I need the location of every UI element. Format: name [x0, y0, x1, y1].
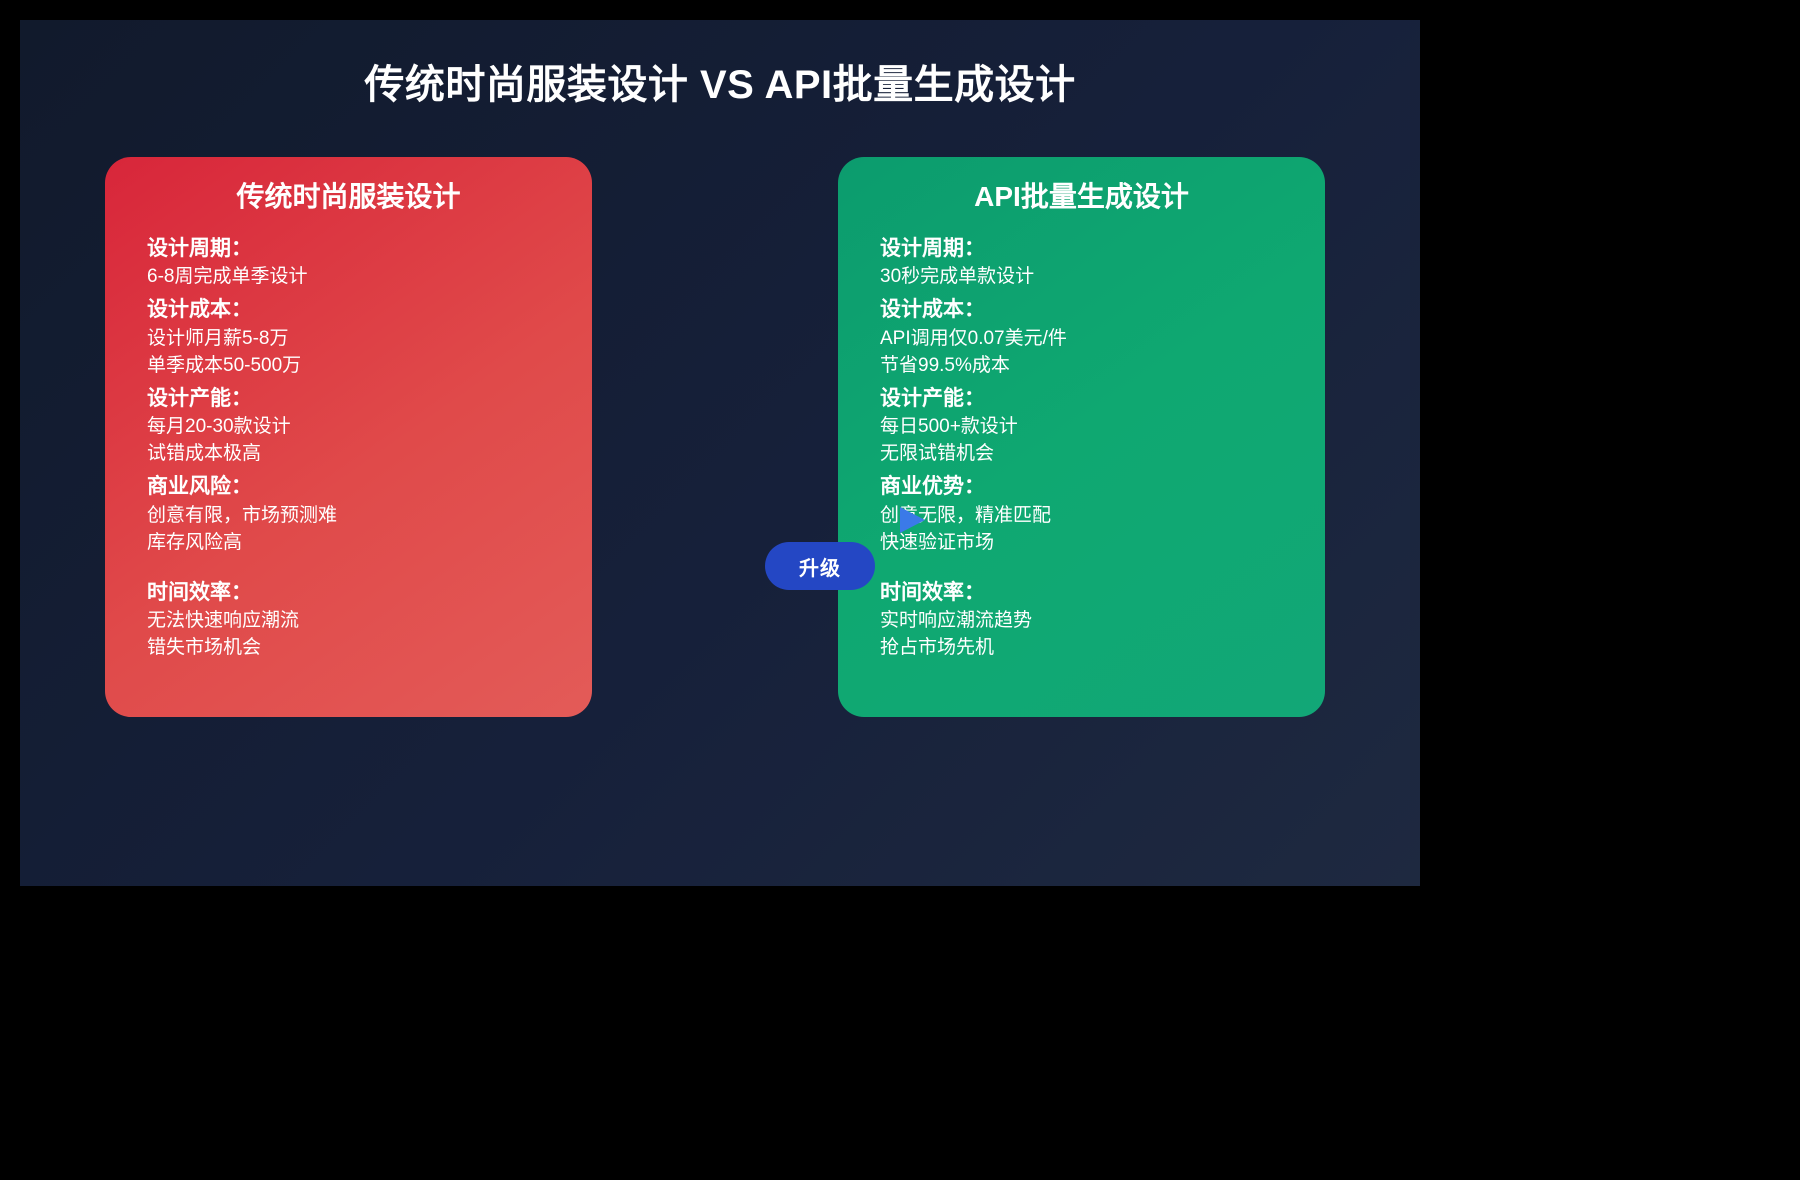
card-title-traditional: 传统时尚服装设计: [135, 179, 562, 214]
slide-panel: 传统时尚服装设计 VS API批量生成设计 传统时尚服装设计 设计周期：6-8周…: [20, 20, 1420, 886]
section-label-api-2: 设计成本：: [880, 295, 1295, 325]
page-title: 传统时尚服装设计 VS API批量生成设计: [20, 52, 1420, 110]
section-line: 创意无限，精准匹配: [880, 503, 1295, 530]
card-title-api: API批量生成设计: [868, 179, 1295, 214]
section-line: 创意有限，市场预测难: [147, 503, 562, 530]
section-label-traditional-4: 商业风险：: [147, 472, 562, 502]
section-line: 无限试错机会: [880, 441, 1295, 468]
section-lines-traditional-1: 6-8周完成单季设计: [147, 264, 562, 291]
slide-canvas: 传统时尚服装设计 VS API批量生成设计 传统时尚服装设计 设计周期：6-8周…: [0, 0, 1800, 1180]
section-line: 节省99.5%成本: [880, 353, 1295, 380]
section-lines-api-1: 30秒完成单款设计: [880, 264, 1295, 291]
section-line: API调用仅0.07美元/件: [880, 326, 1295, 353]
section-label-api-5: 时间效率：: [880, 578, 1295, 608]
section-lines-api-2: API调用仅0.07美元/件节省99.5%成本: [880, 326, 1295, 380]
section-lines-api-5: 实时响应潮流趋势抢占市场先机: [880, 608, 1295, 662]
section-line: 每月20-30款设计: [147, 414, 562, 441]
section-lines-api-4: 创意无限，精准匹配快速验证市场: [880, 503, 1295, 557]
section-line: 设计师月薪5-8万: [147, 326, 562, 353]
triangle-right-icon: [900, 507, 925, 533]
section-line: 单季成本50-500万: [147, 353, 562, 380]
comparison-card-api: API批量生成设计 设计周期：30秒完成单款设计设计成本：API调用仅0.07美…: [838, 157, 1325, 717]
section-line: 实时响应潮流趋势: [880, 608, 1295, 635]
section-label-traditional-5: 时间效率：: [147, 578, 562, 608]
section-label-api-4: 商业优势：: [880, 472, 1295, 502]
section-label-traditional-1: 设计周期：: [147, 234, 562, 264]
section-line: 每日500+款设计: [880, 414, 1295, 441]
section-label-api-3: 设计产能：: [880, 384, 1295, 414]
upgrade-badge: 升级: [765, 542, 875, 590]
section-line: 试错成本极高: [147, 441, 562, 468]
section-line: 30秒完成单款设计: [880, 264, 1295, 291]
section-line: 无法快速响应潮流: [147, 608, 562, 635]
section-line: 快速验证市场: [880, 530, 1295, 557]
section-lines-traditional-2: 设计师月薪5-8万单季成本50-500万: [147, 326, 562, 380]
section-spacer: [880, 561, 1295, 578]
card-body-api: 设计周期：30秒完成单款设计设计成本：API调用仅0.07美元/件节省99.5%…: [868, 234, 1295, 662]
section-line: 抢占市场先机: [880, 635, 1295, 662]
comparison-card-traditional: 传统时尚服装设计 设计周期：6-8周完成单季设计设计成本：设计师月薪5-8万单季…: [105, 157, 592, 717]
section-line: 错失市场机会: [147, 635, 562, 662]
section-lines-api-3: 每日500+款设计无限试错机会: [880, 414, 1295, 468]
section-line: 6-8周完成单季设计: [147, 264, 562, 291]
section-label-traditional-2: 设计成本：: [147, 295, 562, 325]
section-line: 库存风险高: [147, 530, 562, 557]
section-lines-traditional-4: 创意有限，市场预测难库存风险高: [147, 503, 562, 557]
section-label-api-1: 设计周期：: [880, 234, 1295, 264]
section-lines-traditional-5: 无法快速响应潮流错失市场机会: [147, 608, 562, 662]
section-label-traditional-3: 设计产能：: [147, 384, 562, 414]
card-body-traditional: 设计周期：6-8周完成单季设计设计成本：设计师月薪5-8万单季成本50-500万…: [135, 234, 562, 662]
section-lines-traditional-3: 每月20-30款设计试错成本极高: [147, 414, 562, 468]
section-spacer: [147, 561, 562, 578]
